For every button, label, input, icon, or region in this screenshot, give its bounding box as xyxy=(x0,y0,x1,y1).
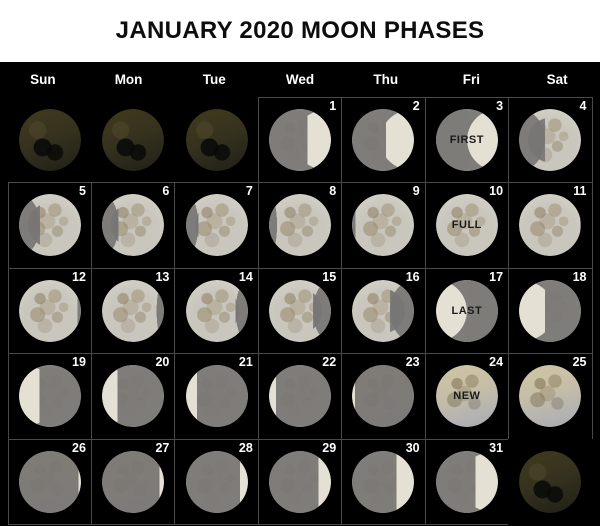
calendar-day-cell[interactable]: 25 xyxy=(508,353,592,440)
moon-surface xyxy=(186,194,248,256)
day-number: 28 xyxy=(239,441,253,455)
calendar-day-cell[interactable]: 20 xyxy=(91,353,175,440)
moon-disc xyxy=(269,280,331,342)
calendar-day-cell-empty xyxy=(508,439,592,526)
calendar-day-cell[interactable]: 10FULL xyxy=(425,182,509,269)
phase-label: FULL xyxy=(452,219,482,231)
moon-disc xyxy=(186,451,248,513)
calendar-day-cell[interactable]: 24NEW xyxy=(425,353,509,440)
moon-phase-graphic xyxy=(269,451,331,513)
moon-disc xyxy=(19,451,81,513)
moon-disc xyxy=(186,194,248,256)
day-number: 14 xyxy=(239,270,253,284)
calendar-day-cell[interactable]: 31 xyxy=(425,439,509,526)
day-number: 3 xyxy=(496,99,503,113)
moon-surface xyxy=(436,451,498,513)
calendar-title-bar: JANUARY 2020 MOON PHASES xyxy=(0,0,600,62)
moon-phase-graphic xyxy=(269,109,331,171)
moon-surface xyxy=(19,109,81,171)
calendar-day-cell[interactable]: 22 xyxy=(258,353,342,440)
calendar-day-cell-empty xyxy=(174,97,258,184)
moon-disc xyxy=(186,365,248,427)
moon-surface xyxy=(102,365,164,427)
moon-disc xyxy=(102,365,164,427)
moon-disc xyxy=(186,280,248,342)
calendar-day-cell[interactable]: 18 xyxy=(508,268,592,355)
moon-disc xyxy=(269,365,331,427)
moon-surface xyxy=(269,365,331,427)
calendar-day-cell[interactable]: 1 xyxy=(258,97,342,184)
moon-phase-graphic xyxy=(102,365,164,427)
moon-phase-graphic xyxy=(436,451,498,513)
phase-label: NEW xyxy=(453,390,480,402)
day-number: 19 xyxy=(72,355,86,369)
calendar-day-cell[interactable]: 6 xyxy=(91,182,175,269)
calendar-week-row: 262728293031 xyxy=(8,439,592,525)
calendar-day-cell[interactable]: 23 xyxy=(341,353,425,440)
calendar-day-cell[interactable]: 27 xyxy=(91,439,175,526)
moon-surface xyxy=(269,280,331,342)
calendar-week-row: 5678910FULL11 xyxy=(8,183,592,269)
weekday-header-tue: Tue xyxy=(171,72,257,87)
calendar-day-cell[interactable]: 4 xyxy=(508,97,592,184)
moon-disc xyxy=(19,109,81,171)
moon-surface xyxy=(519,280,581,342)
calendar-day-cell[interactable]: 11 xyxy=(508,182,592,269)
moon-phase-graphic xyxy=(186,194,248,256)
moon-surface xyxy=(352,109,414,171)
calendar-day-cell[interactable]: 7 xyxy=(174,182,258,269)
moon-disc xyxy=(102,194,164,256)
calendar-day-cell[interactable]: 29 xyxy=(258,439,342,526)
moon-disc xyxy=(519,365,581,427)
moon-phase-graphic xyxy=(269,365,331,427)
calendar-day-cell[interactable]: 21 xyxy=(174,353,258,440)
day-number: 8 xyxy=(329,184,336,198)
calendar-day-cell[interactable]: 16 xyxy=(341,268,425,355)
moon-phase-graphic xyxy=(352,451,414,513)
moon-surface xyxy=(269,451,331,513)
moon-surface xyxy=(102,451,164,513)
day-number: 24 xyxy=(489,355,503,369)
day-number: 27 xyxy=(155,441,169,455)
moon-phase-graphic xyxy=(102,451,164,513)
phase-label: LAST xyxy=(451,305,482,317)
moon-phase-graphic xyxy=(186,365,248,427)
calendar-grid-area: Sun Mon Tue Wed Thu Fri Sat 123FIRST4567… xyxy=(0,62,600,526)
day-number: 9 xyxy=(413,184,420,198)
moon-phase-graphic xyxy=(19,109,81,171)
calendar-day-cell[interactable]: 30 xyxy=(341,439,425,526)
moon-surface xyxy=(186,280,248,342)
moon-surface xyxy=(352,280,414,342)
moon-disc xyxy=(19,194,81,256)
moon-surface xyxy=(102,109,164,171)
day-number: 6 xyxy=(162,184,169,198)
day-number: 21 xyxy=(239,355,253,369)
weekday-header-sat: Sat xyxy=(514,72,600,87)
moon-surface xyxy=(102,194,164,256)
moon-disc xyxy=(352,365,414,427)
moon-disc xyxy=(19,280,81,342)
moon-phase-graphic xyxy=(186,280,248,342)
day-number: 13 xyxy=(155,270,169,284)
day-number: 2 xyxy=(413,99,420,113)
moon-disc xyxy=(269,109,331,171)
day-number: 1 xyxy=(329,99,336,113)
moon-phase-graphic xyxy=(102,194,164,256)
moon-disc xyxy=(519,109,581,171)
calendar-week-row: 121314151617LAST18 xyxy=(8,268,592,354)
weekday-header-row: Sun Mon Tue Wed Thu Fri Sat xyxy=(0,62,600,97)
day-number: 25 xyxy=(573,355,587,369)
day-number: 10 xyxy=(489,184,503,198)
calendar-day-cell[interactable]: 14 xyxy=(174,268,258,355)
calendar-day-cell[interactable]: 13 xyxy=(91,268,175,355)
moon-surface xyxy=(19,451,81,513)
day-number: 18 xyxy=(573,270,587,284)
calendar-day-cell-empty xyxy=(91,97,175,184)
moon-disc xyxy=(352,451,414,513)
weekday-header-fri: Fri xyxy=(429,72,515,87)
moon-surface xyxy=(352,451,414,513)
day-number: 20 xyxy=(155,355,169,369)
moon-phase-graphic xyxy=(102,109,164,171)
moon-surface xyxy=(186,451,248,513)
calendar-week-row: 123FIRST4 xyxy=(8,97,592,183)
day-number: 31 xyxy=(489,441,503,455)
moon-disc xyxy=(519,280,581,342)
moon-surface xyxy=(519,451,581,513)
moon-disc xyxy=(352,194,414,256)
moon-phase-graphic xyxy=(19,194,81,256)
day-number: 4 xyxy=(580,99,587,113)
calendar-day-cell[interactable]: 3FIRST xyxy=(425,97,509,184)
moon-disc xyxy=(102,451,164,513)
moon-surface xyxy=(102,280,164,342)
moon-disc xyxy=(269,451,331,513)
moon-phase-graphic xyxy=(352,280,414,342)
moon-surface xyxy=(519,194,581,256)
moon-phase-graphic xyxy=(186,109,248,171)
weekday-header-sun: Sun xyxy=(0,72,86,87)
day-number: 7 xyxy=(246,184,253,198)
day-number: 12 xyxy=(72,270,86,284)
moon-surface xyxy=(186,365,248,427)
moon-surface xyxy=(186,109,248,171)
phase-label: FIRST xyxy=(450,134,484,146)
moon-phase-graphic xyxy=(269,280,331,342)
moon-disc xyxy=(519,194,581,256)
weekday-header-thu: Thu xyxy=(343,72,429,87)
calendar-day-cell[interactable]: 9 xyxy=(341,182,425,269)
weekday-header-mon: Mon xyxy=(86,72,172,87)
moon-phase-graphic xyxy=(19,451,81,513)
moon-phase-graphic xyxy=(269,194,331,256)
moon-phase-graphic xyxy=(352,194,414,256)
day-number: 23 xyxy=(406,355,420,369)
day-number: 26 xyxy=(72,441,86,455)
day-number: 16 xyxy=(406,270,420,284)
calendar-day-cell[interactable]: 8 xyxy=(258,182,342,269)
calendar-day-cell[interactable]: 12 xyxy=(8,268,92,355)
day-number: 15 xyxy=(322,270,336,284)
calendar-day-cell[interactable]: 2 xyxy=(341,97,425,184)
moon-phase-graphic xyxy=(102,280,164,342)
calendar-day-cell[interactable]: 19 xyxy=(8,353,92,440)
moon-surface xyxy=(19,280,81,342)
moon-phase-graphic xyxy=(519,109,581,171)
moon-disc xyxy=(102,280,164,342)
day-number: 29 xyxy=(322,441,336,455)
moon-phase-graphic xyxy=(519,194,581,256)
moon-phase-graphic xyxy=(352,109,414,171)
moon-phase-graphic xyxy=(519,365,581,427)
moon-phase-graphic xyxy=(519,280,581,342)
moon-phase-graphic xyxy=(19,365,81,427)
moon-surface xyxy=(352,194,414,256)
calendar-day-cell-empty xyxy=(8,97,92,184)
moon-disc xyxy=(436,451,498,513)
moon-surface xyxy=(19,365,81,427)
calendar-day-cell[interactable]: 26 xyxy=(8,439,92,526)
calendar-weeks: 123FIRST45678910FULL11121314151617LAST18… xyxy=(0,97,600,525)
day-number: 30 xyxy=(406,441,420,455)
moon-surface xyxy=(519,365,581,427)
day-number: 5 xyxy=(79,184,86,198)
calendar-day-cell[interactable]: 17LAST xyxy=(425,268,509,355)
moon-disc xyxy=(269,194,331,256)
day-number: 22 xyxy=(322,355,336,369)
moon-phase-graphic xyxy=(519,451,581,513)
moon-phase-calendar: JANUARY 2020 MOON PHASES Sun Mon Tue Wed… xyxy=(0,0,600,526)
moon-surface xyxy=(519,109,581,171)
calendar-week-row: 192021222324NEW25 xyxy=(8,354,592,440)
moon-surface xyxy=(269,194,331,256)
moon-surface xyxy=(19,194,81,256)
calendar-day-cell[interactable]: 28 xyxy=(174,439,258,526)
moon-disc xyxy=(352,109,414,171)
calendar-day-cell[interactable]: 15 xyxy=(258,268,342,355)
moon-phase-graphic xyxy=(19,280,81,342)
moon-disc xyxy=(186,109,248,171)
day-number: 11 xyxy=(573,184,586,198)
moon-disc xyxy=(352,280,414,342)
moon-surface xyxy=(269,109,331,171)
weekday-header-wed: Wed xyxy=(257,72,343,87)
moon-surface xyxy=(352,365,414,427)
day-number: 17 xyxy=(489,270,503,284)
moon-disc xyxy=(102,109,164,171)
calendar-day-cell[interactable]: 5 xyxy=(8,182,92,269)
moon-phase-graphic xyxy=(352,365,414,427)
moon-disc xyxy=(19,365,81,427)
page-title: JANUARY 2020 MOON PHASES xyxy=(116,17,485,45)
moon-disc xyxy=(519,451,581,513)
moon-phase-graphic xyxy=(186,451,248,513)
